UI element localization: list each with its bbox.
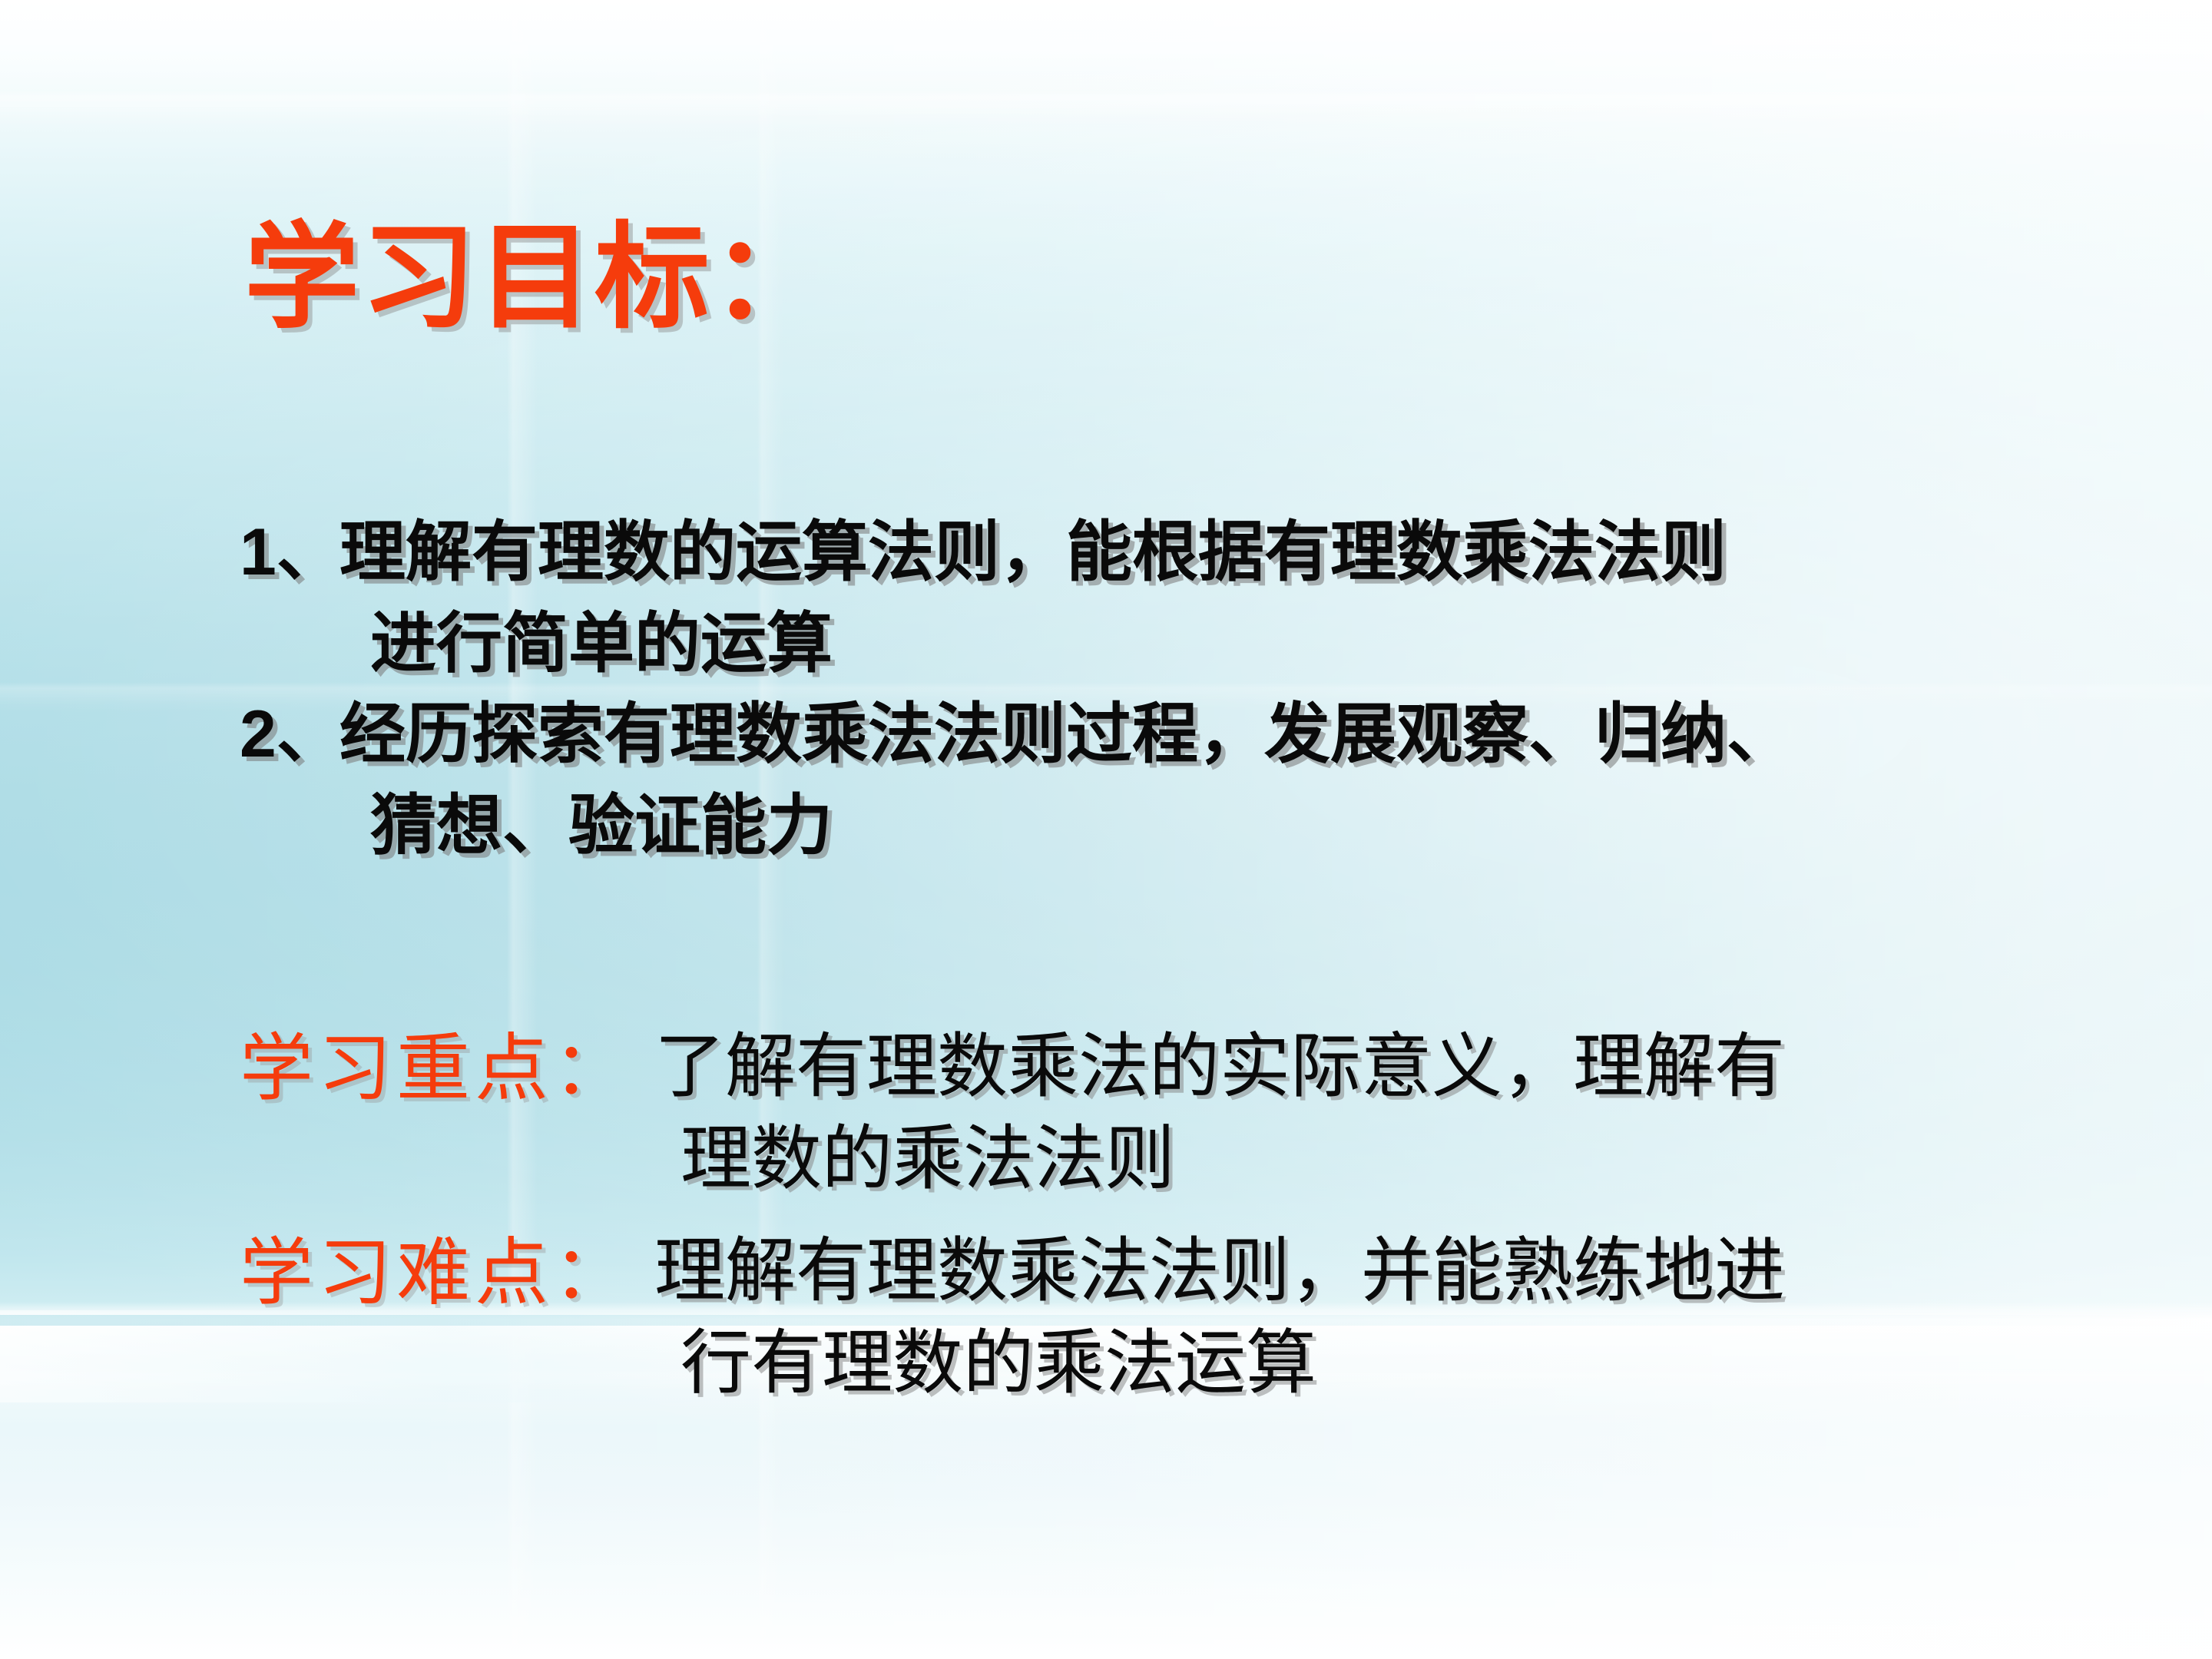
learning-focus-row: 学习重点： 了解有理数乘法的实际意义，理解有 理数的乘法法则 [240,1022,2037,1205]
learning-difficulty-row: 学习难点： 理解有理数乘法法则，并能熟练地进 行有理数的乘法运算 [240,1226,2037,1409]
learning-difficulty-label: 学习难点： [240,1226,631,1322]
slide-title: 学习目标： [244,221,828,336]
slide-content: 学习目标： 1、 理解有理数的运算法则，能根据有理数乘法法则 进行简单的运算 2… [0,0,2212,1659]
objective-number: 2、 [240,689,339,780]
objective-text-line-2: 进行简单的运算 [339,598,2006,690]
learning-focus-text: 了解有理数乘法的实际意义，理解有 理数的乘法法则 [631,1022,2037,1205]
objective-text: 理解有理数的运算法则，能根据有理数乘法法则 进行简单的运算 [339,507,2006,689]
learning-difficulty-text: 理解有理数乘法法则，并能熟练地进 行有理数的乘法运算 [631,1226,2037,1409]
objective-text-line-2: 猜想、验证能力 [339,780,2006,872]
learning-difficulty-text-line-2: 行有理数的乘法运算 [654,1318,2037,1410]
objective-item: 1、 理解有理数的运算法则，能根据有理数乘法法则 进行简单的运算 [240,507,2006,689]
objective-text-line-1: 经历探索有理数乘法法则过程，发展观察、归纳、 [339,697,1793,771]
learning-focus-block: 学习重点： 了解有理数乘法的实际意义，理解有 理数的乘法法则 [240,1022,2037,1205]
learning-focus-text-line-2: 理数的乘法法则 [654,1114,2037,1206]
learning-difficulty-text-line-1: 理解有理数乘法法则，并能熟练地进 [654,1232,1785,1310]
objective-text-line-1: 理解有理数的运算法则，能根据有理数乘法法则 [339,515,1727,589]
objective-number: 1、 [240,507,339,598]
learning-difficulty-block: 学习难点： 理解有理数乘法法则，并能熟练地进 行有理数的乘法运算 [240,1226,2037,1409]
learning-focus-text-line-1: 了解有理数乘法的实际意义，理解有 [654,1028,1785,1106]
objectives-list: 1、 理解有理数的运算法则，能根据有理数乘法法则 进行简单的运算 2、 经历探索… [240,507,2006,872]
slide-canvas: 学习目标： 1、 理解有理数的运算法则，能根据有理数乘法法则 进行简单的运算 2… [0,0,2212,1659]
objective-item: 2、 经历探索有理数乘法法则过程，发展观察、归纳、 猜想、验证能力 [240,689,2006,871]
objective-text: 经历探索有理数乘法法则过程，发展观察、归纳、 猜想、验证能力 [339,689,2006,871]
learning-focus-label: 学习重点： [240,1022,631,1118]
